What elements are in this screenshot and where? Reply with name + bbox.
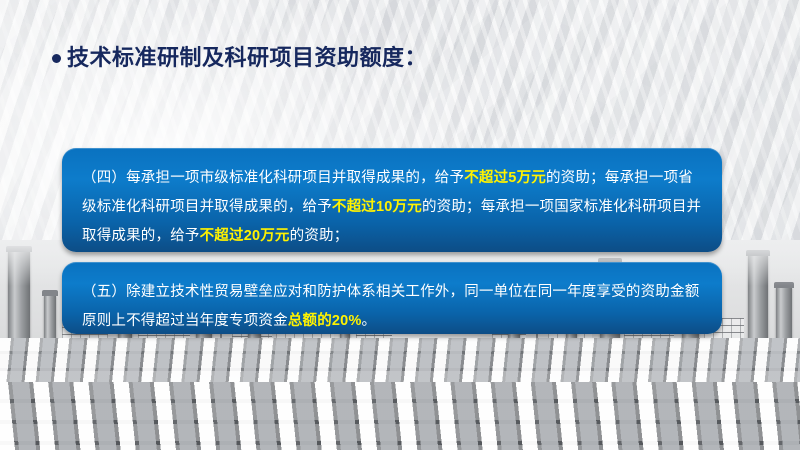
- content-box-item-5-text: （五）除建立技术性贸易壁垒应对和防护体系相关工作外，同一单位在同一年度享受的资助…: [82, 278, 702, 336]
- highlighted-amount: 总额的20%: [288, 313, 362, 329]
- page-title-text: 技术标准研制及科研项目资助额度：: [67, 40, 427, 72]
- highlighted-amount: 不超过5万元: [464, 170, 546, 186]
- page-title: 技术标准研制及科研项目资助额度：: [52, 40, 427, 72]
- content-box-item-4: （四）每承担一项市级标准化科研项目并取得成果的，给予不超过5万元的资助；每承担一…: [62, 148, 722, 252]
- highlighted-amount: 不超过10万元: [332, 199, 422, 215]
- slide-root: 技术标准研制及科研项目资助额度： （四）每承担一项市级标准化科研项目并取得成果的…: [0, 0, 800, 450]
- body-text-run: 的资助；: [290, 228, 349, 244]
- content-box-item-5: （五）除建立技术性贸易壁垒应对和防护体系相关工作外，同一单位在同一年度享受的资助…: [62, 262, 722, 334]
- body-text-run: （四）每承担一项市级标准化科研项目并取得成果的，给予: [82, 170, 464, 186]
- body-text-run: （五）除建立技术性贸易壁垒应对和防护体系相关工作外，同一单位在同一年度享受的资助…: [82, 284, 699, 329]
- container-crates-foreground: [0, 382, 800, 450]
- bullet-dot-icon: [52, 54, 61, 63]
- body-text-run: 。: [362, 313, 377, 329]
- content-box-item-4-text: （四）每承担一项市级标准化科研项目并取得成果的，给予不超过5万元的资助；每承担一…: [82, 164, 702, 251]
- highlighted-amount: 不超过20万元: [200, 228, 290, 244]
